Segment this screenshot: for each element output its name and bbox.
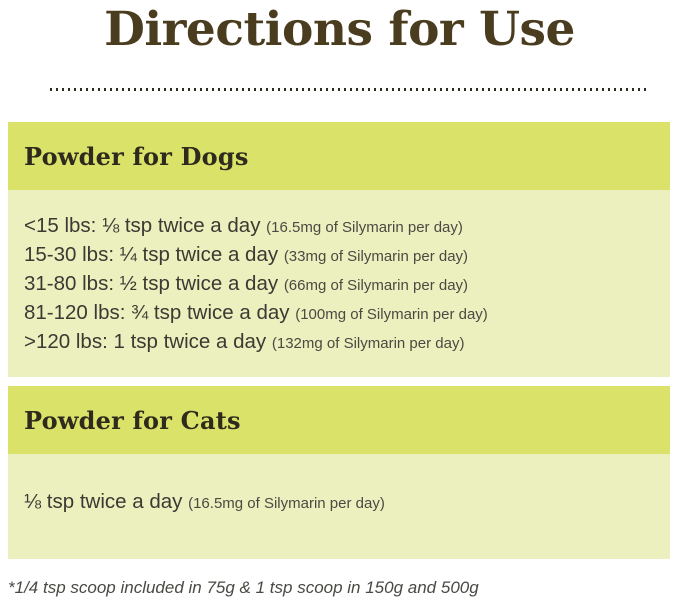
dose-row: >120 lbs: 1 tsp twice a day (132mg of Si… [24, 328, 654, 357]
dose-row: ⅛ tsp twice a day (16.5mg of Silymarin p… [24, 488, 654, 517]
dose-main: >120 lbs: 1 tsp twice a day [24, 330, 266, 353]
section-separator [8, 377, 670, 386]
dose-main: <15 lbs: ⅛ tsp twice a day [24, 214, 260, 237]
dose-list-cats: ⅛ tsp twice a day (16.5mg of Silymarin p… [24, 488, 654, 517]
dose-note: (132mg of Silymarin per day) [272, 335, 465, 352]
dose-note: (100mg of Silymarin per day) [295, 306, 488, 323]
section-header-dogs: Powder for Dogs [8, 122, 670, 190]
dose-note: (16.5mg of Silymarin per day) [266, 219, 463, 236]
dose-row: <15 lbs: ⅛ tsp twice a day (16.5mg of Si… [24, 212, 654, 241]
section-header-cats: Powder for Cats [8, 386, 670, 454]
dose-row: 15-30 lbs: ¼ tsp twice a day (33mg of Si… [24, 241, 654, 270]
dose-row: 81-120 lbs: ¾ tsp twice a day (100mg of … [24, 299, 654, 328]
section-title-cats: Powder for Cats [24, 406, 241, 435]
dose-note: (66mg of Silymarin per day) [284, 277, 468, 294]
dose-main: 15-30 lbs: ¼ tsp twice a day [24, 243, 278, 266]
dose-main: 31-80 lbs: ½ tsp twice a day [24, 272, 278, 295]
page-title: Directions for Use [0, 0, 679, 62]
dosage-panel: Powder for Dogs <15 lbs: ⅛ tsp twice a d… [8, 122, 670, 559]
footnote: *1/4 tsp scoop included in 75g & 1 tsp s… [8, 578, 479, 598]
dose-main: 81-120 lbs: ¾ tsp twice a day [24, 301, 290, 324]
section-body-cats: ⅛ tsp twice a day (16.5mg of Silymarin p… [8, 454, 670, 559]
directions-for-use-panel: Directions for Use Powder for Dogs <15 l… [0, 0, 679, 608]
dose-note: (16.5mg of Silymarin per day) [188, 495, 385, 512]
dose-row: 31-80 lbs: ½ tsp twice a day (66mg of Si… [24, 270, 654, 299]
dose-main: ⅛ tsp twice a day [24, 490, 182, 513]
section-title-dogs: Powder for Dogs [24, 142, 249, 171]
dose-list-dogs: <15 lbs: ⅛ tsp twice a day (16.5mg of Si… [24, 212, 654, 357]
dose-note: (33mg of Silymarin per day) [284, 248, 468, 265]
section-body-dogs: <15 lbs: ⅛ tsp twice a day (16.5mg of Si… [8, 190, 670, 377]
dotted-divider [50, 88, 646, 91]
